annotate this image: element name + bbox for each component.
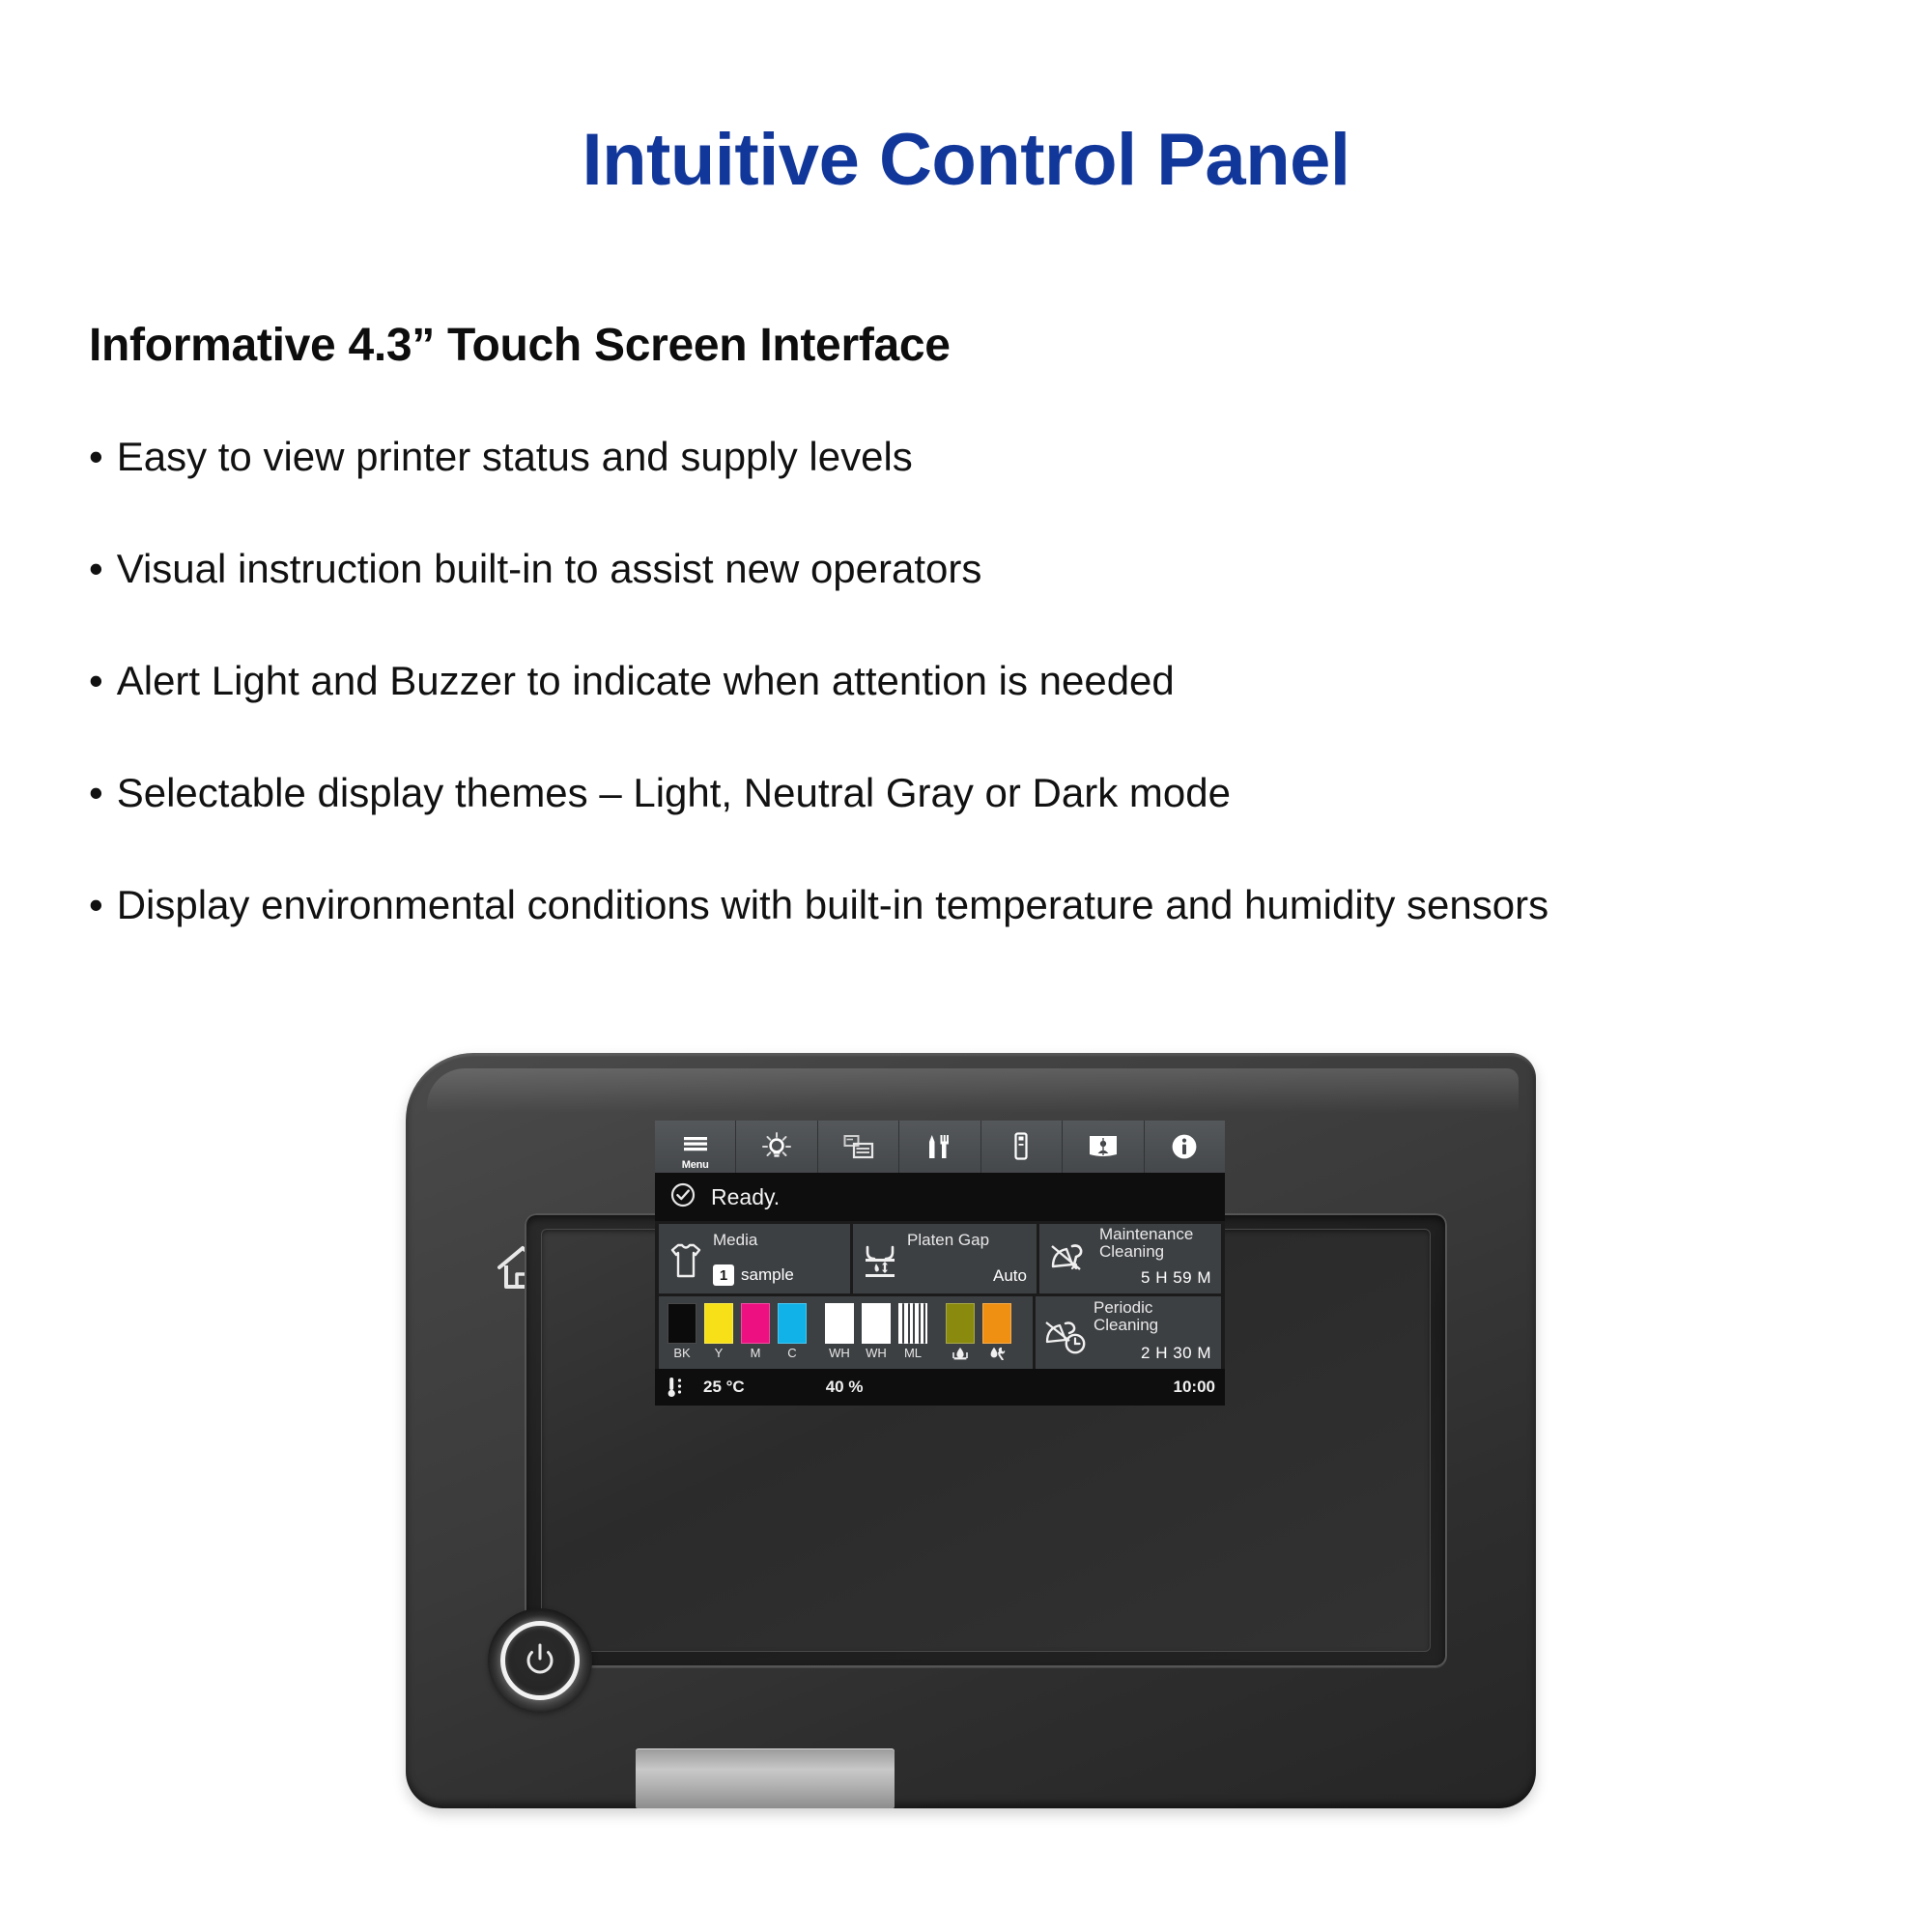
bullet-marker: • xyxy=(89,546,103,591)
ink-cartridge-c[interactable]: C xyxy=(777,1303,808,1359)
list-item: •Visual instruction built-in to assist n… xyxy=(89,549,1857,589)
ink-label: Y xyxy=(715,1347,724,1359)
card-media-value-label: sample xyxy=(741,1265,794,1285)
ink-label: WH xyxy=(829,1347,850,1359)
list-item: •Alert Light and Buzzer to indicate when… xyxy=(89,661,1857,701)
list-item: •Selectable display themes – Light, Neut… xyxy=(89,773,1857,813)
card-maintenance-cleaning-title-line2: Cleaning xyxy=(1099,1242,1164,1261)
toolbar-button-copy[interactable] xyxy=(818,1121,899,1173)
ink-label: BK xyxy=(673,1347,690,1359)
clock-value: 10:00 xyxy=(1174,1378,1215,1397)
ink-group-maintenance xyxy=(945,1303,1012,1360)
page-title: Intuitive Control Panel xyxy=(0,118,1932,202)
power-icon xyxy=(524,1643,556,1678)
t-shirt-icon xyxy=(667,1239,705,1282)
ink-cartridge-bk[interactable]: BK xyxy=(667,1303,697,1359)
toolbar-button-info[interactable] xyxy=(1145,1121,1225,1173)
ink-cartridge-wh-2[interactable]: WH xyxy=(861,1303,892,1359)
supply-cleaning-kit[interactable] xyxy=(981,1303,1012,1360)
ink-group-white: WH WH ML xyxy=(824,1303,928,1359)
card-maintenance-cleaning-title: Maintenance Cleaning xyxy=(1099,1226,1193,1262)
screen-toolbar: Menu xyxy=(655,1121,1225,1173)
toolbar-button-maintenance[interactable] xyxy=(899,1121,980,1173)
menu-hamburger-icon xyxy=(683,1136,708,1157)
ink-level-panel[interactable]: BK Y M C xyxy=(659,1296,1033,1369)
manual-guide-icon xyxy=(1089,1134,1118,1159)
information-icon xyxy=(1171,1133,1198,1160)
supply-waste-ink[interactable] xyxy=(945,1303,976,1360)
toolbar-button-light[interactable] xyxy=(736,1121,817,1173)
list-item-label: Easy to view printer status and supply l… xyxy=(117,434,913,479)
bullet-marker: • xyxy=(89,770,103,815)
card-periodic-cleaning-value: 2 H 30 M xyxy=(1141,1344,1211,1363)
ink-bar xyxy=(862,1303,891,1344)
ink-group-cmyk: BK Y M C xyxy=(667,1303,808,1359)
list-item: •Easy to view printer status and supply … xyxy=(89,437,1857,477)
ink-label: M xyxy=(751,1347,761,1359)
status-badge: Ready. xyxy=(711,1184,780,1210)
environment-status-bar: 25 °C 40 % 10:00 xyxy=(655,1369,1225,1406)
card-maintenance-cleaning[interactable]: Maintenance Cleaning 5 H 59 M xyxy=(1039,1224,1221,1293)
list-item-label: Display environmental conditions with bu… xyxy=(117,882,1548,927)
humidity-value: 40 % xyxy=(826,1378,864,1397)
ink-label: ML xyxy=(904,1347,922,1359)
usb-drive-icon xyxy=(1011,1132,1031,1161)
check-circle-icon xyxy=(670,1182,696,1212)
card-periodic-cleaning-title-line1: Periodic xyxy=(1094,1298,1152,1317)
info-card-row: Media 1 sample xyxy=(655,1221,1225,1293)
ink-cartridge-y[interactable]: Y xyxy=(703,1303,734,1359)
printer-status-bar: Ready. xyxy=(655,1173,1225,1221)
thermometer-icon xyxy=(667,1376,686,1399)
card-platen-gap-title: Platen Gap xyxy=(907,1231,989,1250)
ink-cartridge-wh-1[interactable]: WH xyxy=(824,1303,855,1359)
supply-level-row: BK Y M C xyxy=(655,1293,1225,1369)
toolbar-button-menu-label: Menu xyxy=(655,1159,735,1171)
card-periodic-cleaning[interactable]: Periodic Cleaning 2 H 30 M xyxy=(1036,1296,1221,1369)
periodic-clean-clock-icon xyxy=(1043,1318,1086,1356)
card-media-value: 1 sample xyxy=(713,1264,794,1286)
waste-ink-icon xyxy=(952,1347,969,1360)
cleaning-kit-icon xyxy=(988,1347,1006,1360)
toolbar-button-menu[interactable]: Menu xyxy=(655,1121,736,1173)
bullet-marker: • xyxy=(89,658,103,703)
ink-label: C xyxy=(787,1347,796,1359)
card-platen-gap-value: Auto xyxy=(993,1266,1027,1286)
maintenance-tools-icon xyxy=(925,1132,954,1161)
ink-label: WH xyxy=(866,1347,887,1359)
temperature-value: 25 °C xyxy=(703,1378,745,1397)
bullet-marker: • xyxy=(89,434,103,479)
card-platen-gap[interactable]: Platen Gap Auto xyxy=(853,1224,1037,1293)
power-button[interactable] xyxy=(488,1608,592,1713)
media-tray-handle[interactable] xyxy=(636,1748,895,1808)
platen-gap-icon xyxy=(861,1239,899,1282)
ink-cartridge-m[interactable]: M xyxy=(740,1303,771,1359)
section-subtitle: Informative 4.3” Touch Screen Interface xyxy=(89,319,951,372)
card-media-badge: 1 xyxy=(713,1264,734,1286)
cleaning-nozzle-icon xyxy=(1047,1239,1086,1282)
list-item: •Display environmental conditions with b… xyxy=(89,885,1857,925)
list-item-label: Visual instruction built-in to assist ne… xyxy=(117,546,982,591)
feature-bullet-list: •Easy to view printer status and supply … xyxy=(89,437,1857,997)
control-panel-device: Menu xyxy=(406,1053,1536,1816)
ink-bar xyxy=(825,1303,854,1344)
ink-bar xyxy=(982,1303,1011,1344)
card-media-title: Media xyxy=(713,1231,757,1250)
light-bulb-icon xyxy=(761,1131,792,1162)
card-periodic-cleaning-title-line2: Cleaning xyxy=(1094,1316,1158,1334)
copy-layers-icon xyxy=(843,1134,874,1159)
ink-bar xyxy=(668,1303,696,1344)
toolbar-button-manual[interactable] xyxy=(1063,1121,1144,1173)
ink-cartridge-ml[interactable]: ML xyxy=(897,1303,928,1359)
bullet-marker: • xyxy=(89,882,103,927)
slide-page: Intuitive Control Panel Informative 4.3”… xyxy=(0,0,1932,1932)
touch-screen-display[interactable]: Menu xyxy=(655,1121,1225,1406)
card-maintenance-cleaning-title-line1: Maintenance xyxy=(1099,1225,1193,1243)
toolbar-button-usb[interactable] xyxy=(981,1121,1063,1173)
ink-bar xyxy=(741,1303,770,1344)
card-media[interactable]: Media 1 sample xyxy=(659,1224,850,1293)
ink-bar xyxy=(946,1303,975,1344)
list-item-label: Selectable display themes – Light, Neutr… xyxy=(117,770,1231,815)
list-item-label: Alert Light and Buzzer to indicate when … xyxy=(117,658,1175,703)
ink-bar xyxy=(704,1303,733,1344)
ink-bar xyxy=(778,1303,807,1344)
card-periodic-cleaning-title: Periodic Cleaning xyxy=(1094,1299,1158,1335)
card-maintenance-cleaning-value: 5 H 59 M xyxy=(1141,1268,1211,1288)
ink-bar xyxy=(898,1303,927,1344)
